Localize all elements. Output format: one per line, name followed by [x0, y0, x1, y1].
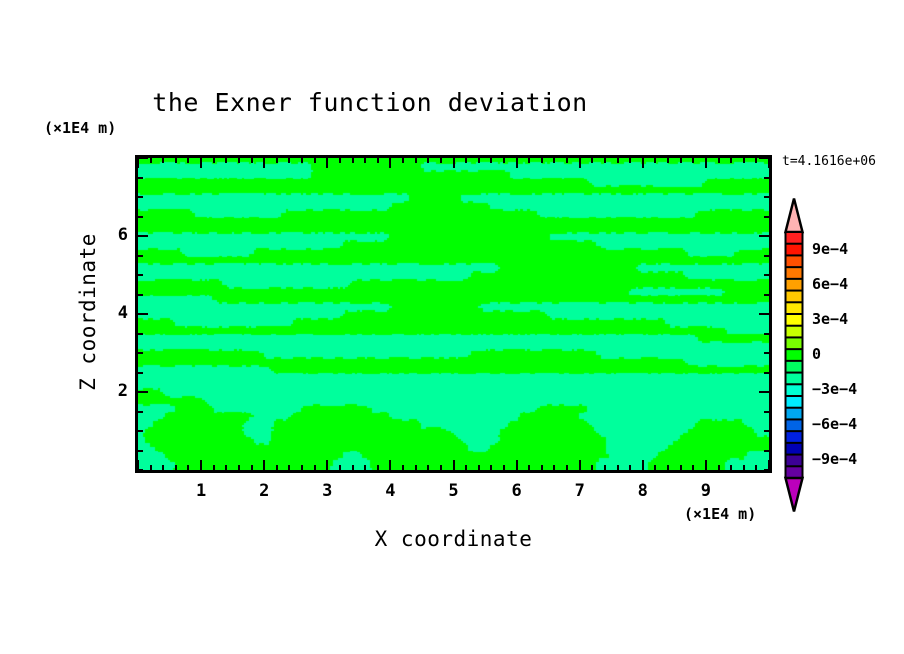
colorbar-band — [786, 337, 803, 349]
y-axis-tick — [764, 352, 769, 354]
x-axis-tick — [352, 158, 354, 163]
x-axis-tick — [389, 158, 391, 168]
x-axis-tick — [490, 465, 492, 470]
x-axis-tick — [162, 158, 164, 163]
x-axis-tick — [705, 158, 707, 168]
x-axis-tick — [402, 158, 404, 163]
x-axis-tick — [743, 158, 745, 163]
x-axis-tick — [389, 460, 391, 470]
colorbar-band — [786, 384, 803, 396]
colorbar-band — [786, 408, 803, 420]
x-axis-tick — [604, 465, 606, 470]
colorbar-tick-label: −9e−4 — [812, 450, 857, 468]
x-axis-tick — [352, 465, 354, 470]
colorbar-tick-label: 0 — [812, 345, 821, 363]
x-axis-tick — [402, 465, 404, 470]
x-axis-tick — [465, 158, 467, 163]
x-axis-tick — [604, 158, 606, 163]
colorbar-band — [786, 326, 803, 338]
x-axis-tick — [137, 158, 139, 168]
x-tick-label: 4 — [375, 481, 405, 501]
x-axis-tick — [465, 465, 467, 470]
x-axis-tick — [680, 158, 682, 163]
y-axis-title: Z coordinate — [76, 202, 100, 422]
x-axis-tick — [301, 465, 303, 470]
colorbar-tick-label: −3e−4 — [812, 380, 857, 398]
colorbar-band — [786, 291, 803, 303]
y-axis-tick — [138, 333, 143, 335]
x-axis-tick — [276, 158, 278, 163]
colorbar-band — [786, 455, 803, 467]
x-axis-tick — [541, 465, 543, 470]
colorbar-band — [786, 302, 803, 314]
x-axis-tick — [642, 460, 644, 470]
y-axis-tick — [138, 255, 143, 257]
x-axis-tick — [187, 465, 189, 470]
colorbar-tick-label: 9e−4 — [812, 240, 848, 258]
x-axis-tick — [516, 460, 518, 470]
y-axis-tick — [759, 391, 769, 393]
x-axis-tick — [490, 158, 492, 163]
x-axis-tick — [579, 460, 581, 470]
x-axis-tick — [654, 465, 656, 470]
colorbar-under-arrow — [786, 478, 803, 512]
y-axis-tick — [138, 294, 143, 296]
x-axis-tick — [263, 460, 265, 470]
y-axis-tick — [138, 430, 143, 432]
y-axis-tick — [764, 177, 769, 179]
x-tick-label: 3 — [312, 481, 342, 501]
y-axis-tick — [764, 294, 769, 296]
x-axis-tick — [364, 465, 366, 470]
colorbar-over-arrow — [786, 199, 803, 233]
x-axis-tick — [288, 158, 290, 163]
y-axis-unit-label: (×1E4 m) — [44, 119, 116, 137]
x-axis-tick — [692, 465, 694, 470]
x-axis-tick — [225, 158, 227, 163]
colorbar-band — [786, 349, 803, 361]
x-axis-tick — [642, 158, 644, 168]
x-axis-tick — [440, 158, 442, 163]
x-axis-tick — [617, 158, 619, 163]
x-axis-tick — [718, 465, 720, 470]
x-axis-tick — [150, 158, 152, 163]
y-axis-tick — [138, 313, 148, 315]
x-axis-tick — [326, 460, 328, 470]
x-axis-tick — [566, 465, 568, 470]
colorbar — [783, 196, 805, 514]
x-axis-tick — [755, 158, 757, 163]
colorbar-band — [786, 431, 803, 443]
contour-plot-area — [135, 155, 772, 473]
colorbar-tick-label: 3e−4 — [812, 310, 848, 328]
x-axis-tick — [629, 465, 631, 470]
page-title: the Exner function deviation — [0, 88, 740, 117]
x-axis-tick — [238, 465, 240, 470]
x-axis-tick — [478, 158, 480, 163]
x-axis-tick — [427, 158, 429, 163]
y-axis-tick — [138, 196, 143, 198]
y-tick-label: 2 — [100, 381, 128, 401]
y-axis-tick — [138, 177, 143, 179]
colorbar-band — [786, 466, 803, 478]
x-axis-tick — [251, 465, 253, 470]
x-axis-tick — [301, 158, 303, 163]
x-axis-tick — [755, 465, 757, 470]
y-axis-tick — [138, 216, 143, 218]
x-axis-tick — [415, 465, 417, 470]
timestamp-annotation: t=4.1616e+06 — [782, 154, 876, 169]
x-axis-tick — [276, 465, 278, 470]
x-axis-unit-label: (×1E4 m) — [684, 505, 756, 523]
x-tick-label: 2 — [249, 481, 279, 501]
x-axis-tick — [213, 465, 215, 470]
y-axis-tick — [138, 372, 143, 374]
colorbar-band — [786, 244, 803, 256]
x-tick-label: 8 — [628, 481, 658, 501]
y-axis-tick — [138, 450, 143, 452]
y-axis-tick — [138, 411, 143, 413]
y-tick-label: 6 — [100, 225, 128, 245]
x-axis-tick — [591, 465, 593, 470]
x-axis-tick — [453, 460, 455, 470]
x-axis-tick — [579, 158, 581, 168]
colorbar-band — [786, 232, 803, 244]
x-tick-label: 9 — [691, 481, 721, 501]
y-axis-tick — [764, 255, 769, 257]
x-axis-tick — [326, 158, 328, 168]
y-axis-tick — [764, 411, 769, 413]
y-axis-tick — [764, 372, 769, 374]
x-axis-tick — [213, 158, 215, 163]
x-axis-tick — [503, 158, 505, 163]
x-axis-tick — [200, 158, 202, 168]
x-tick-label: 5 — [439, 481, 469, 501]
y-axis-tick — [138, 235, 148, 237]
contour-field — [138, 158, 769, 470]
x-axis-tick — [364, 158, 366, 163]
x-axis-tick — [553, 465, 555, 470]
x-axis-tick — [541, 158, 543, 163]
x-axis-title: X coordinate — [135, 527, 772, 551]
x-axis-tick — [617, 465, 619, 470]
y-axis-tick — [138, 352, 143, 354]
x-axis-tick — [251, 158, 253, 163]
x-axis-tick — [516, 158, 518, 168]
x-axis-tick — [528, 158, 530, 163]
x-axis-tick — [377, 465, 379, 470]
y-axis-tick — [759, 313, 769, 315]
y-axis-tick — [759, 157, 769, 159]
y-axis-tick — [764, 196, 769, 198]
x-axis-tick — [427, 465, 429, 470]
y-axis-tick — [138, 157, 148, 159]
x-axis-tick — [718, 158, 720, 163]
y-tick-label: 4 — [100, 303, 128, 323]
y-axis-tick — [138, 274, 143, 276]
x-axis-tick — [225, 465, 227, 470]
x-axis-tick — [654, 158, 656, 163]
x-axis-tick — [263, 158, 265, 168]
x-axis-tick — [629, 158, 631, 163]
x-axis-tick — [528, 465, 530, 470]
colorbar-band — [786, 373, 803, 385]
x-axis-tick — [730, 158, 732, 163]
colorbar-band — [786, 267, 803, 279]
x-axis-tick — [680, 465, 682, 470]
x-axis-tick — [175, 465, 177, 470]
x-axis-tick — [667, 465, 669, 470]
x-axis-tick — [730, 465, 732, 470]
y-axis-tick — [764, 450, 769, 452]
y-axis-tick — [764, 333, 769, 335]
x-tick-label: 6 — [502, 481, 532, 501]
colorbar-band — [786, 314, 803, 326]
y-axis-tick — [764, 216, 769, 218]
x-axis-tick — [768, 158, 770, 168]
x-axis-tick — [314, 465, 316, 470]
x-axis-tick — [314, 158, 316, 163]
x-axis-tick — [162, 465, 164, 470]
x-axis-tick — [743, 465, 745, 470]
y-axis-tick — [138, 391, 148, 393]
x-axis-tick — [667, 158, 669, 163]
x-axis-tick — [187, 158, 189, 163]
x-axis-tick — [503, 465, 505, 470]
colorbar-band — [786, 443, 803, 455]
y-axis-tick — [764, 469, 769, 471]
y-axis-tick — [764, 430, 769, 432]
colorbar-band — [786, 419, 803, 431]
x-axis-tick — [440, 465, 442, 470]
colorbar-band — [786, 255, 803, 267]
x-axis-tick — [692, 158, 694, 163]
x-axis-tick — [453, 158, 455, 168]
x-axis-tick — [553, 158, 555, 163]
x-axis-tick — [339, 158, 341, 163]
x-tick-label: 1 — [186, 481, 216, 501]
x-tick-label: 7 — [565, 481, 595, 501]
colorbar-tick-label: −6e−4 — [812, 415, 857, 433]
x-axis-tick — [478, 465, 480, 470]
colorbar-band — [786, 396, 803, 408]
colorbar-band — [786, 361, 803, 373]
x-axis-tick — [566, 158, 568, 163]
x-axis-tick — [288, 465, 290, 470]
x-axis-tick — [339, 465, 341, 470]
y-axis-tick — [138, 469, 143, 471]
colorbar-svg — [783, 196, 805, 514]
x-axis-tick — [415, 158, 417, 163]
x-axis-tick — [591, 158, 593, 163]
x-axis-tick — [200, 460, 202, 470]
colorbar-band — [786, 279, 803, 291]
x-axis-tick — [175, 158, 177, 163]
x-axis-tick — [705, 460, 707, 470]
x-axis-tick — [377, 158, 379, 163]
y-axis-tick — [759, 235, 769, 237]
y-axis-tick — [764, 274, 769, 276]
x-axis-tick — [238, 158, 240, 163]
x-axis-tick — [150, 465, 152, 470]
colorbar-tick-label: 6e−4 — [812, 275, 848, 293]
